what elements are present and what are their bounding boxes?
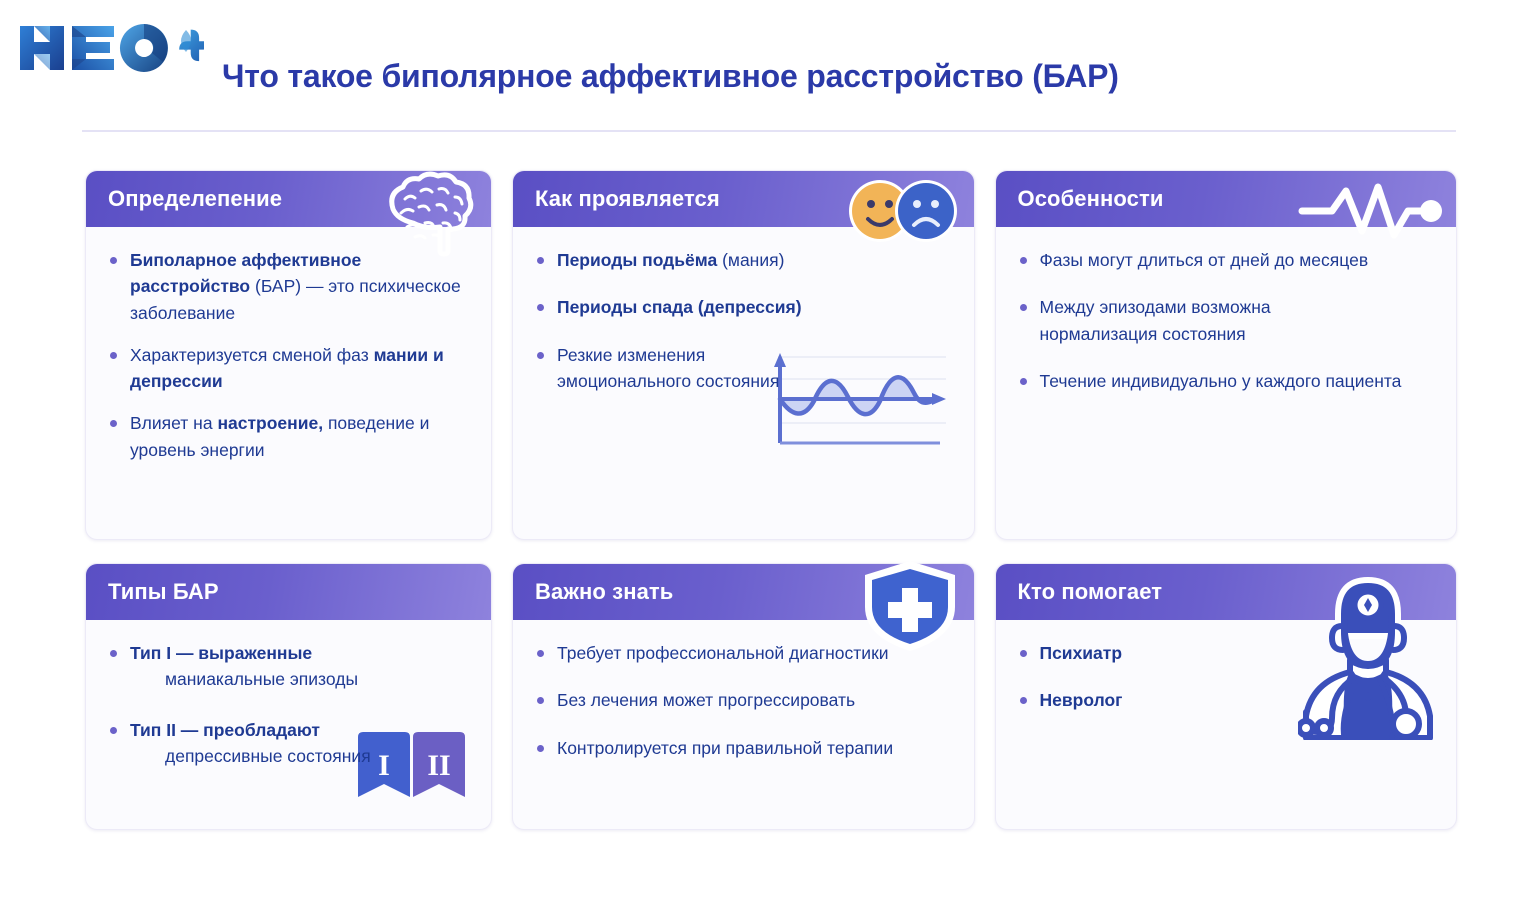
- card-definition[interactable]: Определепение: [85, 170, 492, 540]
- card-types-title: Типы БАР: [108, 579, 219, 605]
- card-manifestation[interactable]: Как проявляется Периоды подьёма (мания): [512, 170, 975, 540]
- list-item: Между эпизодами возможна нормализация со…: [1018, 294, 1318, 347]
- card-who-helps-title: Кто помогает: [1018, 579, 1163, 605]
- who-helps-b2: Невролог: [1040, 690, 1123, 710]
- infographic-page: Что такое биполярное аффективное расстро…: [0, 0, 1536, 922]
- card-manifestation-title: Как проявляется: [535, 186, 720, 212]
- definition-bullet-list: Биполарное аффективное расстройство (БАР…: [108, 247, 469, 463]
- card-who-helps-body: Психиатр Невролог: [996, 620, 1457, 745]
- card-types-body: Тип I — выраженные маниакальные эпизоды …: [86, 620, 491, 795]
- card-definition-header: Определепение: [86, 171, 491, 227]
- list-item: Контролируется при правильной терапии: [535, 735, 952, 761]
- card-who-helps[interactable]: Кто помогает: [995, 563, 1458, 830]
- types-b1-sub: маниакальные эпизоды: [130, 666, 469, 692]
- important-bullet-list: Требует профессиональной диагностики Без…: [535, 640, 952, 761]
- card-types[interactable]: Типы БАР Тип I — выраженные маниакальные…: [85, 563, 492, 830]
- manifestation-bullet-list: Периоды подьёма (мания) Периоды спада (д…: [535, 247, 952, 394]
- types-bullet-list: Тип I — выраженные маниакальные эпизоды …: [108, 640, 469, 769]
- features-b1: Фазы могут длиться от дней до месяцев: [1040, 250, 1369, 270]
- list-item: Тип I — выраженные маниакальные эпизоды: [108, 640, 469, 693]
- card-definition-title: Определепение: [108, 186, 282, 212]
- list-item: Характеризуется сменой фаз мании и депре…: [108, 342, 469, 395]
- definition-b2-rest: Характеризуется сменой фаз: [130, 345, 374, 365]
- types-b1-bold: Тип I — выраженные: [130, 643, 312, 663]
- list-item: Влияет на настроение, поведение и уровен…: [108, 410, 469, 463]
- card-types-header: Типы БАР: [86, 564, 491, 620]
- features-b3: Течение индивидуально у каждого пациента: [1040, 371, 1402, 391]
- card-important[interactable]: Важно знать Требует профессиональной диа…: [512, 563, 975, 830]
- list-item: Невролог: [1018, 687, 1435, 713]
- list-item: Требует профессиональной диагностики: [535, 640, 952, 666]
- definition-b3-rest: Влияет на: [130, 413, 217, 433]
- manifestation-b1-bold: Периоды подьёма: [557, 250, 717, 270]
- features-bullet-list: Фазы могут длиться от дней до месяцев Ме…: [1018, 247, 1435, 394]
- card-manifestation-body: Периоды подьёма (мания) Периоды спада (д…: [513, 227, 974, 425]
- list-item: Течение индивидуально у каждого пациента: [1018, 368, 1435, 394]
- list-item: Тип II — преобладают депрессивные состоя…: [108, 717, 469, 770]
- card-grid: Определепение: [85, 170, 1457, 830]
- features-b2: Между эпизодами возможна нормализация со…: [1040, 297, 1271, 343]
- card-features-header: Особенности: [996, 171, 1457, 227]
- list-item: Периоды подьёма (мания): [535, 247, 952, 273]
- important-b1: Требует профессиональной диагностики: [557, 643, 889, 663]
- card-important-body: Требует профессиональной диагностики Без…: [513, 620, 974, 792]
- important-b2: Без лечения может прогрессировать: [557, 690, 855, 710]
- list-item: Без лечения может прогрессировать: [535, 687, 952, 713]
- card-definition-body: Биполарное аффективное расстройство (БАР…: [86, 227, 491, 489]
- who-helps-bullet-list: Психиатр Невролог: [1018, 640, 1435, 714]
- definition-b3-bold: настроение,: [217, 413, 323, 433]
- types-b2-bold: Тип II — преобладают: [130, 720, 320, 740]
- card-features-title: Особенности: [1018, 186, 1164, 212]
- neo-plus-logo: [14, 16, 204, 78]
- list-item: Психиатр: [1018, 640, 1435, 666]
- title-divider: [82, 130, 1456, 132]
- important-b3: Контролируется при правильной терапии: [557, 738, 893, 758]
- card-features-body: Фазы могут длиться от дней до месяцев Ме…: [996, 227, 1457, 425]
- manifestation-b1-rest: (мания): [717, 250, 784, 270]
- card-important-header: Важно знать: [513, 564, 974, 620]
- page-title: Что такое биполярное аффективное расстро…: [222, 58, 1119, 95]
- list-item: Фазы могут длиться от дней до месяцев: [1018, 247, 1435, 273]
- who-helps-b1: Психиатр: [1040, 643, 1123, 663]
- list-item: Периоды спада (депрессия): [535, 294, 952, 320]
- manifestation-b2-bold: Периоды спада (депрессия): [557, 297, 802, 317]
- list-item: Резкие изменения эмоционального состояни…: [535, 342, 780, 395]
- card-manifestation-header: Как проявляется: [513, 171, 974, 227]
- card-important-title: Важно знать: [535, 579, 673, 605]
- card-features[interactable]: Особенности Фазы могут длиться от дней д…: [995, 170, 1458, 540]
- types-b2-sub: депрессивные состояния: [130, 743, 469, 769]
- list-item: Биполарное аффективное расстройство (БАР…: [108, 247, 469, 326]
- manifestation-b3-rest: Резкие изменения эмоционального состояни…: [557, 345, 779, 391]
- card-who-helps-header: Кто помогает: [996, 564, 1457, 620]
